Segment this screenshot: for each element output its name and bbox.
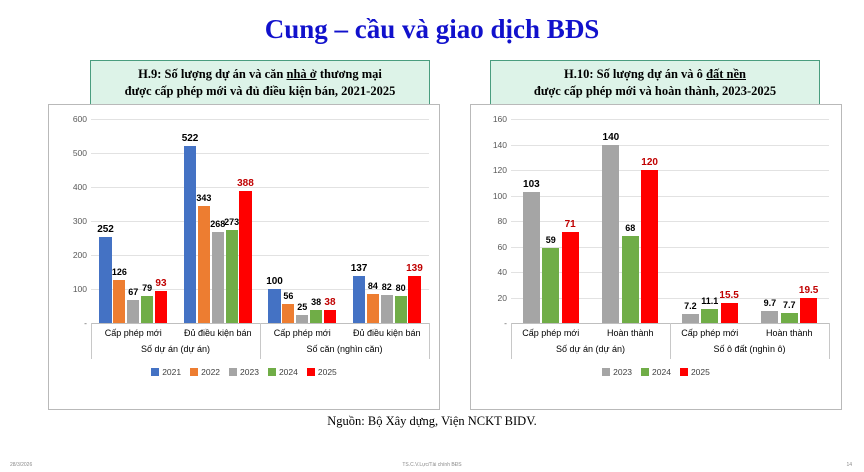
chart-h9-plot-area: -100200300400500600252126677993Cấp phép …	[49, 105, 439, 409]
legend-label: 2024	[279, 367, 298, 377]
bar-2025	[562, 232, 579, 323]
legend-swatch-icon	[229, 368, 237, 376]
legend-label: 2025	[318, 367, 337, 377]
gridline	[91, 255, 429, 256]
y-axis-tick-label: 100	[57, 284, 90, 294]
category-label: Hoàn thành	[750, 328, 830, 338]
bar-2024	[542, 248, 559, 323]
bar-value-label: 120	[632, 157, 668, 168]
legend-item-2021[interactable]: 2021	[151, 367, 181, 377]
bar-value-label: 388	[227, 178, 263, 189]
y-axis-tick-label: 80	[477, 216, 510, 226]
gridline	[511, 145, 829, 146]
chart-h9-header: H.9: Số lượng dự án và căn nhà ở thương …	[90, 60, 430, 106]
bar-2025	[800, 298, 817, 323]
bar-value-label: 137	[341, 263, 377, 274]
bar-2025	[721, 303, 738, 323]
legend-item-2024[interactable]: 2024	[641, 367, 671, 377]
slide-title: Cung – cầu và giao dịch BĐS	[0, 14, 864, 45]
h9-header-line1-part2: thương mại	[317, 67, 382, 81]
chart-h10-panel: -204060801001201401601035971Cấp phép mới…	[470, 104, 842, 410]
h10-header-line2: được cấp phép mới và hoàn thành, 2023-20…	[534, 84, 776, 98]
y-axis-tick-label: 500	[57, 148, 90, 158]
legend-label: 2025	[691, 367, 710, 377]
gridline	[91, 153, 429, 154]
bar-value-label: 522	[172, 133, 208, 144]
bar-2021	[99, 237, 111, 323]
bar-2023	[761, 311, 778, 323]
gridline	[91, 221, 429, 222]
bar-2023	[296, 315, 308, 324]
bar-value-label: 139	[396, 263, 432, 274]
y-axis-tick-label: 160	[477, 114, 510, 124]
bar-2023	[523, 192, 540, 323]
legend-item-2023[interactable]: 2023	[229, 367, 259, 377]
y-axis-tick-label: 120	[477, 165, 510, 175]
bar-2025	[155, 291, 167, 323]
axis-group-label: Số dự án (dự án)	[511, 344, 670, 354]
axis-group-label: Số căn (nghìn căn)	[260, 344, 429, 354]
bar-value-label: 38	[312, 297, 348, 308]
bar-2023	[682, 314, 699, 323]
chart-h10-plot-area: -204060801001201401601035971Cấp phép mới…	[471, 105, 841, 409]
bar-value-label: 103	[513, 179, 549, 190]
gridline	[511, 170, 829, 171]
category-label: Cấp phép mới	[260, 328, 345, 338]
legend-swatch-icon	[268, 368, 276, 376]
bar-2025	[408, 276, 420, 323]
chart-h10-header: H.10: Số lượng dự án và ô đất nền được c…	[490, 60, 820, 106]
legend-label: 2023	[240, 367, 259, 377]
axis-group-label: Số ô đất (nghìn ô)	[670, 344, 829, 354]
bar-value-label: 100	[257, 276, 293, 287]
chart-h9-panel: -100200300400500600252126677993Cấp phép …	[48, 104, 440, 410]
legend-label: 2021	[162, 367, 181, 377]
h9-header-line1-underlined: nhà ở	[287, 67, 317, 81]
category-label: Đủ điều kiện bán	[176, 328, 261, 338]
bar-2024	[781, 313, 798, 323]
legend-swatch-icon	[602, 368, 610, 376]
legend-swatch-icon	[307, 368, 315, 376]
legend-item-2024[interactable]: 2024	[268, 367, 298, 377]
legend-label: 2022	[201, 367, 220, 377]
legend-swatch-icon	[641, 368, 649, 376]
legend-swatch-icon	[151, 368, 159, 376]
bar-2025	[239, 191, 251, 323]
h9-header-line1-part1: H.9: Số lượng dự án và căn	[138, 67, 286, 81]
chart-legend: 202320242025	[471, 367, 841, 377]
y-axis-tick-label: 20	[477, 293, 510, 303]
bar-2024	[310, 310, 322, 323]
bar-2025	[641, 170, 658, 323]
bar-value-label: 15.5	[711, 290, 747, 301]
gridline	[91, 119, 429, 120]
bar-2021	[184, 146, 196, 323]
y-axis-tick-label: 40	[477, 267, 510, 277]
footer-page-number: 14	[846, 462, 852, 468]
bar-value-label: 126	[101, 267, 137, 277]
footer-center-text: TS.C.V.Lực/Tài chính BĐS	[0, 462, 864, 468]
bar-2023	[602, 145, 619, 324]
bar-2025	[324, 310, 336, 323]
bar-value-label: 71	[552, 219, 588, 230]
legend-item-2025[interactable]: 2025	[680, 367, 710, 377]
legend-item-2022[interactable]: 2022	[190, 367, 220, 377]
y-axis-tick-label: -	[57, 318, 90, 328]
y-axis-tick-label: -	[477, 318, 510, 328]
bar-2023	[127, 300, 139, 323]
bar-2024	[395, 296, 407, 323]
bar-2023	[212, 232, 224, 323]
axis-group-separator	[429, 323, 430, 359]
category-label: Cấp phép mới	[511, 328, 591, 338]
h10-header-line1-underlined: đất nền	[706, 67, 746, 81]
axis-group-label: Số dự án (dự án)	[91, 344, 260, 354]
category-label: Cấp phép mới	[91, 328, 176, 338]
h9-header-line2: được cấp phép mới và đủ điều kiện bán, 2…	[125, 84, 396, 98]
bar-2024	[141, 296, 153, 323]
bar-value-label: 19.5	[791, 285, 827, 296]
bar-value-label: 93	[143, 278, 179, 289]
legend-item-2025[interactable]: 2025	[307, 367, 337, 377]
y-axis-tick-label: 60	[477, 242, 510, 252]
bar-value-label: 140	[593, 132, 629, 143]
gridline	[511, 119, 829, 120]
legend-label: 2023	[613, 367, 632, 377]
category-label: Cấp phép mới	[670, 328, 750, 338]
category-label: Hoàn thành	[591, 328, 671, 338]
legend-swatch-icon	[190, 368, 198, 376]
legend-label: 2024	[652, 367, 671, 377]
legend-swatch-icon	[680, 368, 688, 376]
source-note: Nguồn: Bộ Xây dựng, Viện NCKT BIDV.	[0, 414, 864, 429]
h10-header-line1-part1: H.10: Số lượng dự án và ô	[564, 67, 706, 81]
y-axis-tick-label: 200	[57, 250, 90, 260]
bar-value-label: 343	[186, 193, 222, 203]
bar-2024	[226, 230, 238, 323]
category-label: Đủ điều kiện bán	[345, 328, 430, 338]
y-axis-tick-label: 100	[477, 191, 510, 201]
gridline	[511, 196, 829, 197]
chart-legend: 20212022202320242025	[49, 367, 439, 377]
y-axis-tick-label: 140	[477, 140, 510, 150]
bar-2024	[622, 236, 639, 323]
bar-2023	[381, 295, 393, 323]
bar-2022	[367, 294, 379, 323]
bar-2024	[701, 309, 718, 323]
y-axis-tick-label: 300	[57, 216, 90, 226]
bar-value-label: 252	[88, 224, 124, 235]
axis-group-separator	[829, 323, 830, 359]
y-axis-tick-label: 600	[57, 114, 90, 124]
y-axis-tick-label: 400	[57, 182, 90, 192]
legend-item-2023[interactable]: 2023	[602, 367, 632, 377]
